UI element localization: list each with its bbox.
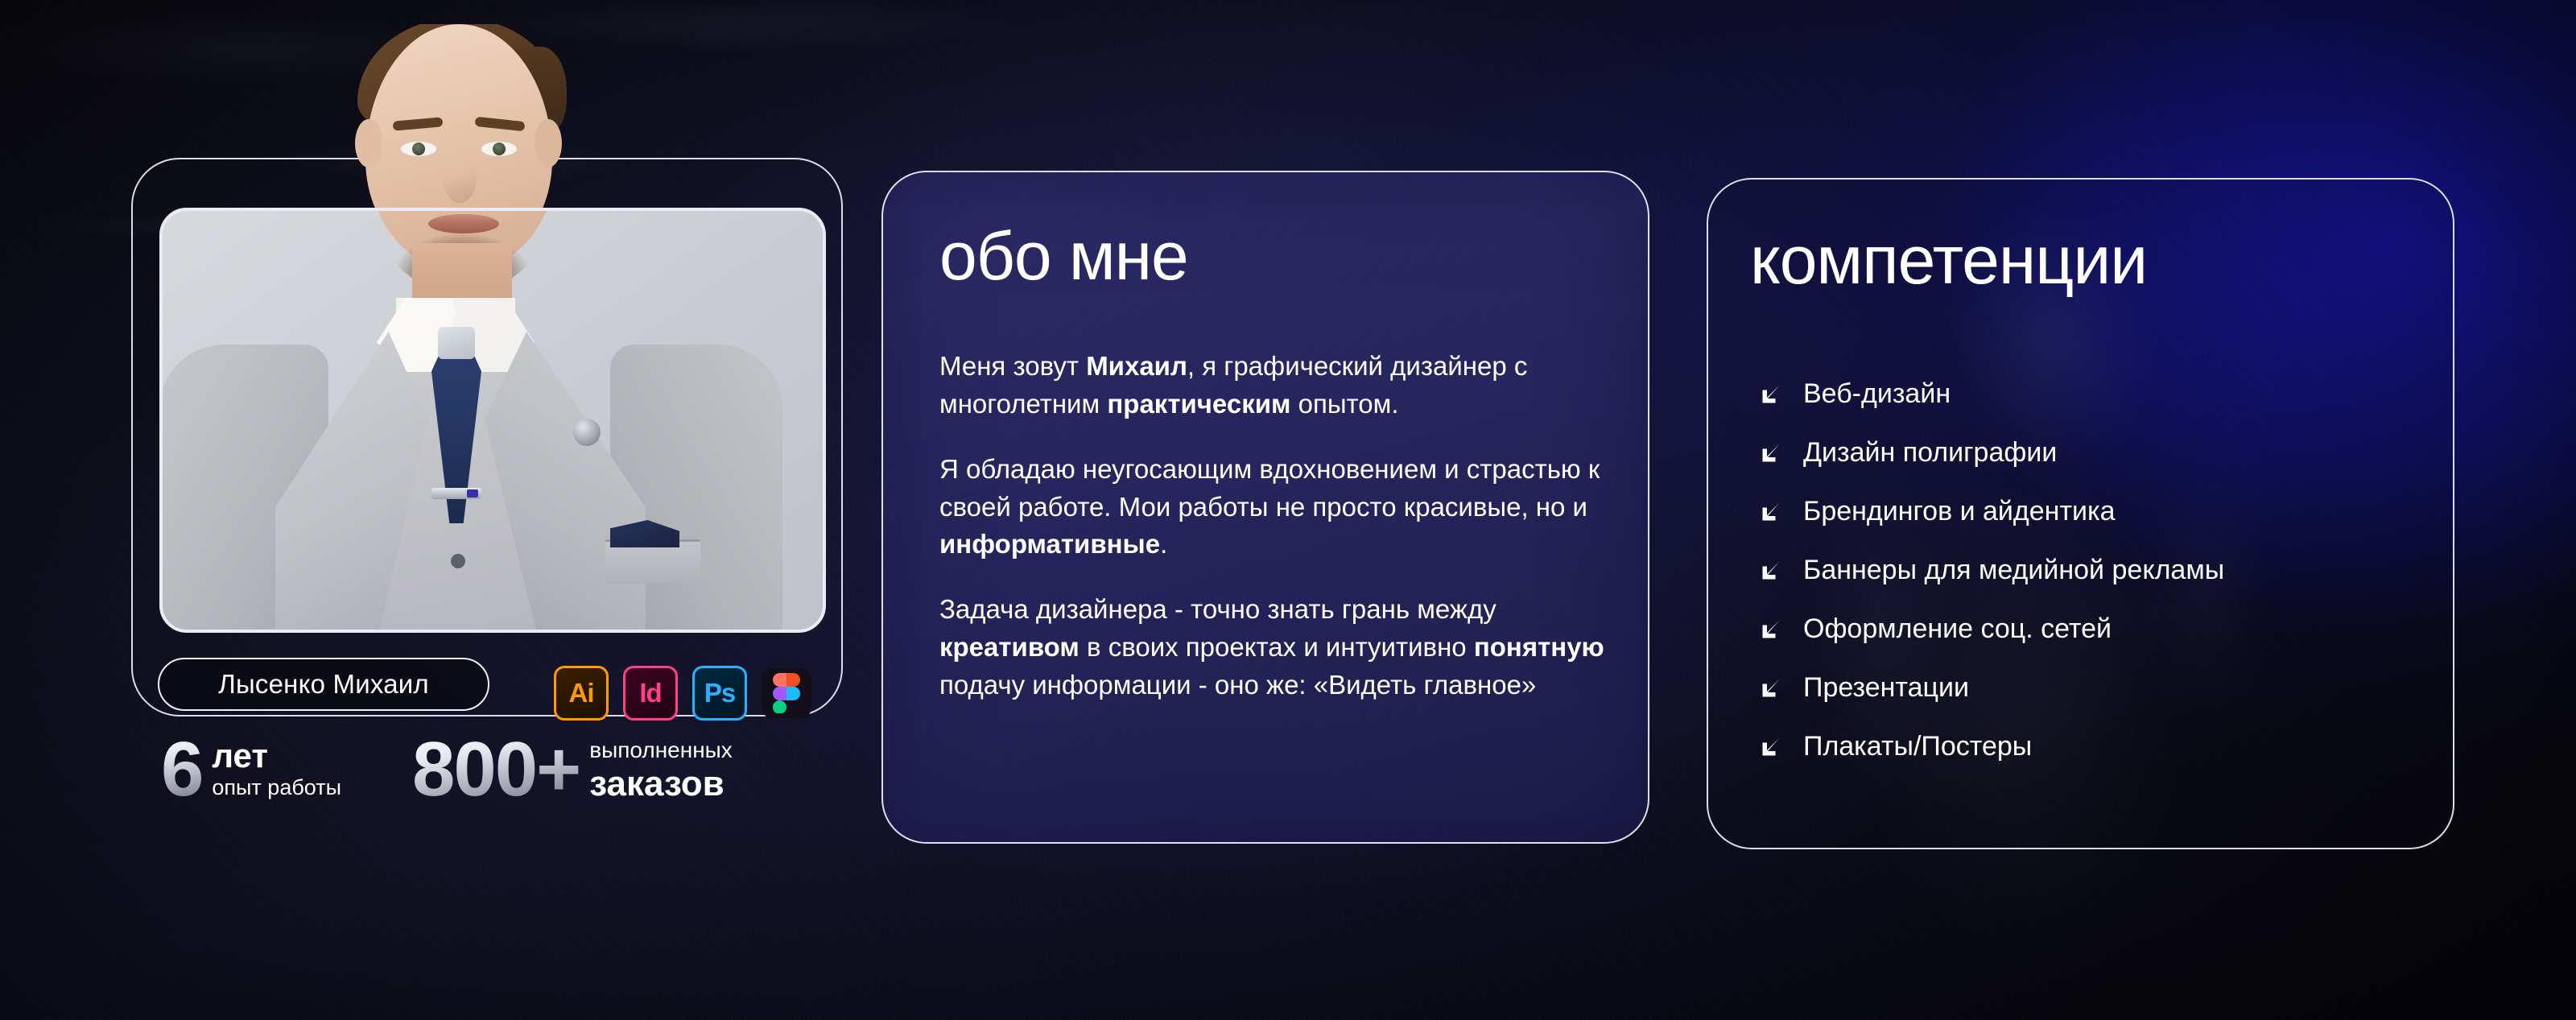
name-badge-label: Лысенко Михаил xyxy=(218,669,429,700)
about-text: Меня зовут xyxy=(939,351,1086,381)
name-badge: Лысенко Михаил xyxy=(158,658,489,711)
competency-item: Баннеры для медийной рекламы xyxy=(1753,541,2421,600)
about-paragraph: Задача дизайнера - точно знать грань меж… xyxy=(939,591,1640,704)
portrait-eye-right xyxy=(481,142,517,156)
portrait-eye-left xyxy=(401,142,436,156)
about-emphasis: информативные xyxy=(939,529,1160,559)
banner-root: Лысенко Михаил Ai Id Ps 6 лет xyxy=(0,0,2576,1020)
stat-orders: 800+ выполненных заказов xyxy=(412,734,733,805)
about-text: в своих проектах и интуитивно xyxy=(1080,632,1474,662)
photoshop-label: Ps xyxy=(704,678,735,708)
stats-row: 6 лет опыт работы 800+ выполненных заказ… xyxy=(161,734,733,805)
competencies-list: Веб-дизайнДизайн полиграфииБрендингов и … xyxy=(1753,365,2421,776)
about-emphasis: креативом xyxy=(939,632,1080,662)
competency-item: Веб-дизайн xyxy=(1753,365,2421,423)
competency-item: Дизайн полиграфии xyxy=(1753,423,2421,482)
competencies-title: компетенции xyxy=(1750,226,2147,294)
about-text: . xyxy=(1160,529,1167,559)
illustrator-label: Ai xyxy=(569,678,594,708)
lapel-pin xyxy=(573,419,601,446)
arrow-down-left-icon xyxy=(1753,436,1789,471)
stat-orders-caption-top: выполненных xyxy=(589,739,733,762)
competency-item: Оформление соц. сетей xyxy=(1753,600,2421,659)
arrow-down-left-icon xyxy=(1753,612,1789,647)
arrow-down-left-icon xyxy=(1753,553,1789,588)
stat-experience-caption: опыт работы xyxy=(212,774,341,800)
arrow-down-left-icon xyxy=(1753,377,1789,412)
arrow-down-left-icon xyxy=(1753,729,1789,765)
about-card: обо мне Меня зовут Михаил, я графический… xyxy=(881,171,1649,844)
about-text: подачу информации - оно же: «Видеть глав… xyxy=(939,670,1536,700)
about-emphasis: Михаил xyxy=(1086,351,1187,381)
adobe-indesign-icon[interactable]: Id xyxy=(623,666,678,721)
competency-label: Брендингов и айдентика xyxy=(1803,496,2116,527)
portrait-photo xyxy=(159,208,826,633)
portrait-beard xyxy=(374,182,544,209)
portrait-ear-left xyxy=(355,119,382,167)
portrait-mouth-inner xyxy=(428,214,499,233)
competency-label: Оформление соц. сетей xyxy=(1803,613,2112,645)
about-paragraphs: Меня зовут Михаил, я графический дизайне… xyxy=(939,348,1640,732)
about-text: опытом. xyxy=(1290,389,1398,419)
stat-experience-number: 6 xyxy=(161,734,202,805)
indesign-label: Id xyxy=(639,678,661,708)
competency-label: Плакаты/Постеры xyxy=(1803,731,2032,762)
stat-experience-unit: лет xyxy=(212,739,341,774)
portrait-suit xyxy=(159,298,826,633)
adobe-photoshop-icon[interactable]: Ps xyxy=(692,666,747,721)
competency-item: Презентации xyxy=(1753,659,2421,717)
competencies-card: компетенции Веб-дизайнДизайн полиграфииБ… xyxy=(1707,178,2454,849)
adobe-illustrator-icon[interactable]: Ai xyxy=(554,666,609,721)
about-emphasis: практическим xyxy=(1107,389,1290,419)
about-emphasis: понятную xyxy=(1474,632,1604,662)
competency-label: Презентации xyxy=(1803,672,1969,704)
portrait-ear-right xyxy=(535,119,562,167)
about-text: Я обладаю неугосающим вдохновением и стр… xyxy=(939,454,1600,522)
necktie-knot xyxy=(438,327,475,359)
competency-item: Плакаты/Постеры xyxy=(1753,717,2421,776)
stat-orders-caption-bottom: заказов xyxy=(589,762,733,805)
portrait-head-overflow xyxy=(159,24,819,209)
figma-icon[interactable] xyxy=(762,668,811,718)
competency-item: Брендингов и айдентика xyxy=(1753,482,2421,541)
competency-label: Баннеры для медийной рекламы xyxy=(1803,555,2224,586)
tie-clip xyxy=(431,488,481,499)
stat-orders-number: 800+ xyxy=(412,734,580,805)
competency-label: Дизайн полиграфии xyxy=(1803,437,2057,469)
competency-label: Веб-дизайн xyxy=(1803,378,1951,410)
arrow-down-left-icon xyxy=(1753,671,1789,706)
about-paragraph: Я обладаю неугосающим вдохновением и стр… xyxy=(939,451,1640,564)
about-text: Задача дизайнера - точно знать грань меж… xyxy=(939,594,1496,624)
about-paragraph: Меня зовут Михаил, я графический дизайне… xyxy=(939,348,1640,423)
arrow-down-left-icon xyxy=(1753,494,1789,530)
stat-experience: 6 лет опыт работы xyxy=(161,734,341,805)
software-icons: Ai Id Ps xyxy=(554,666,811,721)
about-title: обо мне xyxy=(939,222,1188,290)
